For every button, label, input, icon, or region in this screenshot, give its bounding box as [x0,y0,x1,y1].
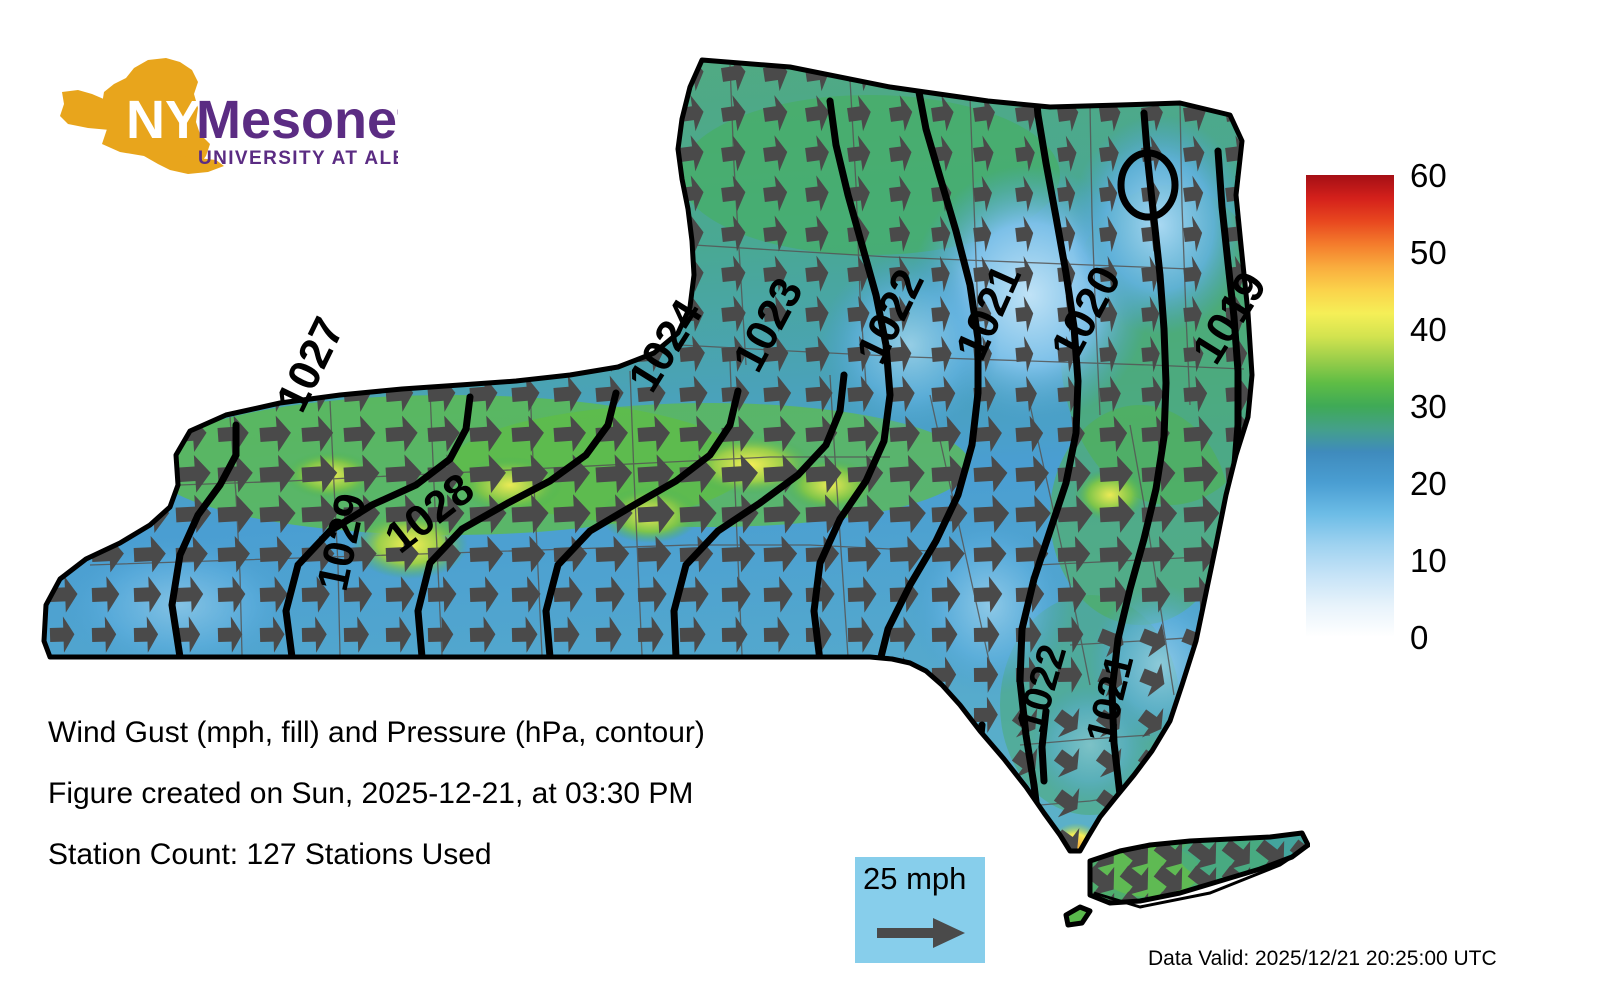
wind-arrow [258,174,285,213]
wind-arrow [635,94,664,133]
wind-arrow [90,134,117,173]
wind-arrow [593,94,622,133]
wind-arrow [552,295,579,334]
wind-arrow [594,134,622,173]
wind-arrow [552,335,580,373]
wind-arrow [132,295,158,333]
wind-arrow [510,174,538,213]
wind-arrow [635,54,664,93]
caption-created: Figure created on Sun, 2025-12-21, at 03… [48,779,828,809]
wind-arrow [468,174,496,213]
wind-arrow [848,737,872,774]
wind-arrow [848,696,872,733]
wind-arrow [174,335,201,373]
colorbar-tick-0: 0 [1410,621,1428,654]
wind-arrow [764,656,789,693]
wind-arrow [216,134,243,173]
wind-arrow [217,375,246,413]
wind-arrow [49,494,87,534]
wind-arrow [132,335,159,373]
wind-arrow [49,375,78,413]
wind-arrow [174,255,200,294]
wind-arrow [216,174,243,213]
wind-arrow [258,134,285,173]
wind-arrow [636,134,664,173]
wind-arrow [49,415,82,454]
wind-arrow [48,214,75,253]
wind-arrow [132,174,159,213]
wind-arrow [468,254,495,293]
wind-arrow [848,817,872,854]
wind-arrow [636,214,664,253]
wind-arrow [132,214,158,253]
wind-arrow [133,454,170,494]
wind-arrow [1225,494,1263,535]
wind-arrow [1097,54,1124,93]
wind-arrow [299,54,327,93]
wind-arrow [91,375,120,413]
wind-arrow [300,134,328,173]
wind-arrow [173,54,200,93]
wind-arrow [90,295,116,333]
wind-arrow [467,94,496,133]
wind-arrow [48,255,74,294]
wind-arrow [384,174,412,213]
wind-arrow [848,777,872,813]
wind-arrow [428,656,453,693]
wind-arrow [384,134,412,173]
wind-arrow [467,54,496,93]
wind-arrow [216,295,242,333]
caption-station-count: Station Count: 127 Stations Used [48,840,828,870]
wind-arrow [131,94,158,133]
wind-arrow [384,214,411,253]
wind-arrow [512,656,537,693]
wind-arrow [342,214,369,253]
wind-arrow [509,94,538,133]
wind-scale-key: 25 mph [855,857,985,963]
wind-arrow [90,174,117,213]
wind-arrow [384,254,411,293]
colorbar-tick-60: 60 [1410,159,1447,192]
wind-arrow [509,54,538,93]
wind-scale-arrow-icon [877,915,967,951]
wind-arrow [302,656,326,693]
wind-arrow [342,174,370,213]
wind-arrow [510,134,538,173]
wind-arrow [133,415,166,454]
wind-arrow [1173,740,1214,783]
wind-arrow [551,94,580,133]
wind-arrow [1283,857,1310,904]
wind-arrow [176,656,200,693]
wind-arrow [174,295,200,333]
wind-arrow [383,54,412,93]
wind-arrow [636,174,664,213]
wind-arrow [215,94,242,133]
wind-arrow [426,214,454,253]
wind-arrow [594,174,622,213]
colorbar-tick-40: 40 [1410,313,1447,346]
wind-arrow [89,94,116,133]
wind-arrow [1131,780,1172,823]
wind-arrow [48,335,75,373]
wind-arrow [1173,780,1214,823]
wind-arrow [554,656,579,693]
wind-arrow [890,777,914,813]
wind-arrow [971,54,998,93]
wind-arrow [470,656,495,693]
wind-arrow [132,134,159,173]
wind-arrow [1139,54,1166,93]
wind-arrow [383,94,411,133]
wind-arrow [216,255,242,294]
wind-arrow [386,656,411,693]
wind-arrow [510,295,537,334]
wind-arrow [341,54,369,93]
wind-arrow [91,494,128,534]
wind-arrow [257,54,285,93]
wind-arrow [300,174,327,213]
wind-arrow [932,737,956,774]
wind-arrow [510,254,537,293]
caption-title: Wind Gust (mph, fill) and Pressure (hPa,… [48,718,828,748]
wind-arrow [384,335,412,373]
wind-arrow [300,254,327,293]
wind-arrow [552,174,580,213]
wind-arrow [175,375,204,413]
wind-arrow [510,214,538,253]
wind-arrow [680,656,705,693]
wind-arrow [91,415,124,454]
wind-arrow [384,295,411,334]
wind-arrow [468,214,496,253]
wind-arrow [594,214,622,253]
wind-arrow [47,94,75,133]
wind-arrow [260,656,284,693]
wind-arrow [1215,740,1256,783]
wind-arrow [1215,700,1256,743]
wind-arrow [974,817,998,854]
wind-arrow [89,54,117,93]
wind-arrow [174,174,201,213]
colorbar-gradient [1306,175,1394,637]
wind-arrow [510,335,538,373]
wind-arrow [426,174,454,213]
wind-arrow [174,214,200,253]
wind-arrow [216,335,243,373]
wind-arrow [638,656,663,693]
wind-arrow [342,254,369,293]
wind-arrow [426,335,454,373]
wind-arrow [134,656,158,693]
wind-arrow [300,214,327,253]
wind-arrow [890,817,914,854]
wind-arrow [1225,535,1259,573]
wind-arrow [593,54,622,93]
wind-arrow [258,214,285,253]
colorbar-tick-50: 50 [1410,236,1447,269]
weather-map-figure: NYS Mesonet UNIVERSITY AT ALBANY [0,0,1600,1000]
wind-arrow [636,254,664,293]
wind-arrow [90,255,116,294]
wind-arrow [48,134,75,173]
wind-arrow [929,54,957,93]
wind-arrow [932,817,956,854]
wind-arrow [722,656,747,693]
wind-arrow [1173,700,1214,743]
wind-arrow [1005,820,1046,863]
wind-arrow [92,656,116,693]
wind-arrow [932,696,956,733]
wind-arrow [91,454,128,494]
wind-arrow [132,255,158,294]
wind-arrow [1181,54,1209,93]
wind-arrow [216,214,243,253]
wind-arrow [1013,54,1040,93]
wind-arrow [1219,658,1255,701]
data-valid-note: Data Valid: 2025/12/21 20:25:00 UTC [1148,948,1497,969]
wind-arrow [342,295,369,334]
wind-arrow [1215,780,1256,823]
wind-arrow [552,134,580,173]
wind-arrow [133,375,162,413]
wind-arrow [468,335,496,373]
wind-arrow [594,295,621,334]
wind-arrow [131,54,158,93]
wind-arrow [468,295,495,334]
wind-arrow [932,777,956,813]
wind-arrow [90,214,116,253]
wind-arrow [552,214,580,253]
wind-arrow [50,656,74,693]
wind-arrow [299,94,327,133]
wind-arrow [344,656,368,693]
wind-arrow [90,335,117,373]
colorbar-tick-20: 20 [1410,467,1447,500]
wind-arrow [596,656,621,693]
wind-arrow [173,94,200,133]
wind-arrow [890,737,914,774]
colorbar-tick-30: 30 [1410,390,1447,423]
wind-arrow [426,254,453,293]
wind-arrow [257,94,285,133]
wind-arrow [48,295,74,333]
wind-arrow [1249,883,1295,930]
wind-arrow [806,656,831,693]
wind-arrow [47,54,75,93]
wind-arrow [552,254,580,293]
wind-arrow [258,255,284,294]
wind-arrow [215,54,243,93]
wind-arrow [426,134,454,173]
wind-arrow [218,656,242,693]
wind-arrow [551,54,580,93]
figure-caption: Wind Gust (mph, fill) and Pressure (hPa,… [48,718,828,901]
wind-arrow [49,454,86,494]
wind-arrow [890,696,914,733]
wind-arrow [425,94,453,133]
wind-arrow [425,54,454,93]
wind-arrow [341,94,369,133]
wind-arrow [258,295,284,333]
wind-arrow [1223,54,1251,93]
wind-arrow [848,656,873,693]
wind-arrow [426,295,453,334]
wind-arrow [48,174,75,213]
wind-arrow [468,134,496,173]
wind-arrow [594,254,622,293]
wind-arrow [174,134,201,173]
wind-arrow [1225,576,1255,613]
gust-colorbar: 6050403020100 [1306,170,1586,650]
wind-scale-label: 25 mph [863,863,966,894]
colorbar-tick-10: 10 [1410,544,1447,577]
wind-arrow [974,777,998,813]
wind-arrow [1055,54,1082,93]
wind-arrow [1283,883,1310,930]
wind-arrow [1219,618,1256,661]
wind-arrow [342,134,370,173]
